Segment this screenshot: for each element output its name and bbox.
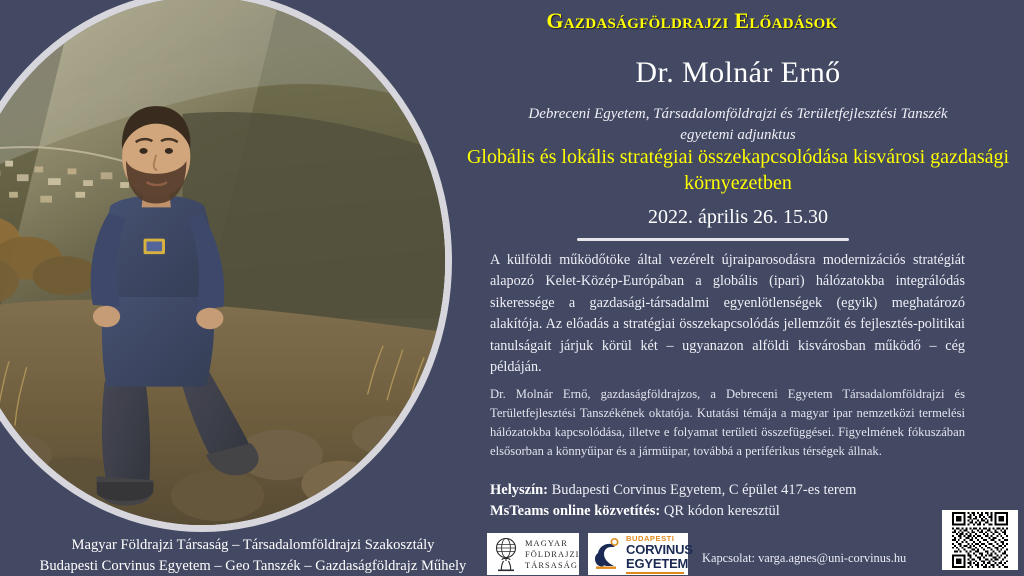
stream-value: QR kódon keresztül bbox=[664, 503, 780, 519]
raven-icon bbox=[592, 537, 622, 571]
venue-row: Helyszín: Budapesti Corvinus Egyetem, C … bbox=[490, 480, 980, 501]
stream-label: MsTeams online közvetítés: bbox=[490, 503, 660, 519]
speaker-photo-frame bbox=[0, 0, 452, 532]
abstract-paragraph: A külföldi működőtöke által vezérelt újr… bbox=[490, 250, 965, 378]
organizer-line-2: Budapesti Corvinus Egyetem – Geo Tanszék… bbox=[18, 556, 488, 576]
organizers: Magyar Földrajzi Társaság – Társadalomfö… bbox=[18, 535, 488, 576]
logo-mfk-line-3: TÁRSASÁG bbox=[525, 560, 580, 571]
logo-bce-line-2: CORVINUS bbox=[626, 543, 693, 557]
logo-bce-text: BUDAPESTI CORVINUS EGYETEM bbox=[626, 534, 693, 575]
speaker-name: Dr. Molnár Ernő bbox=[452, 56, 1024, 90]
series-title: Gazdaságföldrajzi Előadások bbox=[372, 8, 1012, 34]
logo-mfk-line-2: FÖLDRAJZI bbox=[525, 549, 580, 560]
venue-label: Helyszín: bbox=[490, 482, 548, 498]
logo-bce-line-3: EGYETEM bbox=[626, 557, 693, 571]
affiliation-line-2: egyetemi adjunktus bbox=[460, 125, 1016, 146]
speaker-bio-paragraph: Dr. Molnár Ernő, gazdaságföldrajzos, a D… bbox=[490, 385, 965, 461]
venue-value: Budapesti Corvinus Egyetem, C épület 417… bbox=[552, 482, 857, 498]
logo-mfk-text: MAGYAR FÖLDRAJZI TÁRSASÁG bbox=[525, 538, 580, 571]
contact-line: Kapcsolat: varga.agnes@uni-corvinus.hu bbox=[702, 551, 906, 566]
logo-budapesti-corvinus-egyetem: BUDAPESTI CORVINUS EGYETEM bbox=[588, 533, 688, 575]
speaker-affiliation: Debreceni Egyetem, Társadalomföldrajzi é… bbox=[460, 104, 1016, 146]
poster-canvas: Gazdaságföldrajzi Előadások Dr. Molnár E… bbox=[0, 0, 1024, 576]
event-info: Helyszín: Budapesti Corvinus Egyetem, C … bbox=[490, 480, 980, 522]
qr-code-image bbox=[944, 512, 1016, 568]
globe-atlas-icon bbox=[490, 536, 522, 572]
divider-rule bbox=[577, 238, 849, 241]
event-date: 2022. április 26. 15.30 bbox=[452, 206, 1024, 229]
content-column: Gazdaságföldrajzi Előadások Dr. Molnár E… bbox=[452, 0, 1024, 576]
stream-row: MsTeams online közvetítés: QR kódon kere… bbox=[490, 501, 980, 522]
logo-mfk-line-1: MAGYAR bbox=[525, 538, 580, 549]
speaker-photo bbox=[0, 0, 445, 525]
partner-logos: MAGYAR FÖLDRAJZI TÁRSASÁG BUDAPESTI CORV… bbox=[487, 533, 688, 575]
affiliation-line-1: Debreceni Egyetem, Társadalomföldrajzi é… bbox=[460, 104, 1016, 125]
logo-bce-accent-bar bbox=[626, 572, 684, 575]
organizer-line-1: Magyar Földrajzi Társaság – Társadalomfö… bbox=[18, 535, 488, 556]
qr-code[interactable] bbox=[942, 510, 1018, 570]
lecture-title: Globális és lokális stratégiai összekapc… bbox=[452, 144, 1024, 196]
logo-magyar-foldrajzi-tarsasag: MAGYAR FÖLDRAJZI TÁRSASÁG bbox=[487, 533, 579, 575]
